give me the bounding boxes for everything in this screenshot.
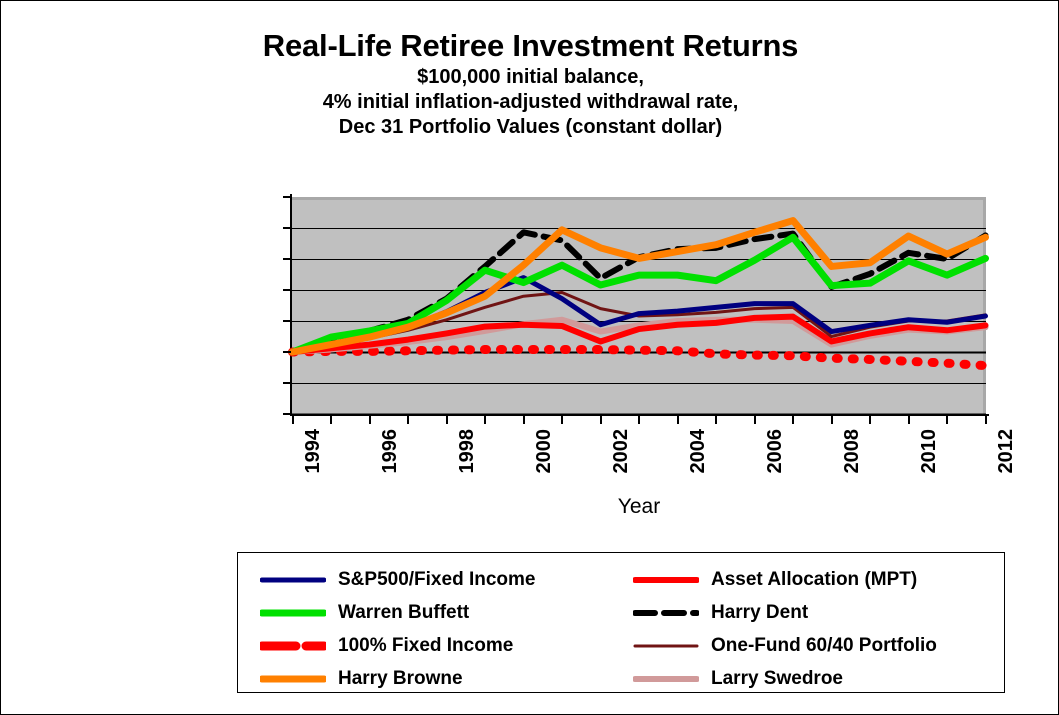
x-axis-tick xyxy=(330,416,332,424)
x-axis-tick xyxy=(600,416,602,424)
y-axis-tick xyxy=(283,227,291,229)
legend-label: Warren Buffett xyxy=(338,602,469,624)
x-axis-tick xyxy=(869,416,871,424)
x-axis-tick xyxy=(484,416,486,424)
legend-swatch-icon xyxy=(633,636,699,656)
x-axis-tick xyxy=(792,416,794,424)
legend-item[interactable]: Asset Allocation (MPT) xyxy=(633,563,937,596)
series-lines xyxy=(292,197,986,414)
x-axis-tick xyxy=(407,416,409,424)
y-axis-tick xyxy=(283,258,291,260)
title-block: Real-Life Retiree Investment Returns $10… xyxy=(1,27,1059,140)
x-axis-tick xyxy=(292,416,294,424)
legend-swatch-icon xyxy=(633,570,699,590)
legend-swatch-icon xyxy=(260,603,326,623)
legend-item[interactable]: 100% Fixed Income xyxy=(260,629,535,662)
x-axis-tick xyxy=(446,416,448,424)
x-axis-tick xyxy=(561,416,563,424)
y-axis-tick xyxy=(283,320,291,322)
legend-swatch-icon xyxy=(633,603,699,623)
legend-item[interactable]: S&P500/Fixed Income xyxy=(260,563,535,596)
subtitle-line-2: 4% initial inflation-adjusted withdrawal… xyxy=(1,90,1059,115)
x-axis-tick-label: 2012 xyxy=(995,429,1018,474)
x-axis-tick xyxy=(985,416,987,424)
legend-swatch-icon xyxy=(633,669,699,689)
x-axis-tick-label: 1996 xyxy=(379,429,402,474)
x-axis-tick-label: 2002 xyxy=(610,429,633,474)
x-axis-tick-label: 2004 xyxy=(687,429,710,474)
y-axis-tick xyxy=(283,413,291,415)
legend-item[interactable]: Warren Buffett xyxy=(260,596,535,629)
legend-item[interactable]: One-Fund 60/40 Portfolio xyxy=(633,629,937,662)
chart-frame: Real-Life Retiree Investment Returns $10… xyxy=(0,0,1059,715)
y-axis-tick xyxy=(283,382,291,384)
x-axis-tick-label: 2010 xyxy=(918,429,941,474)
legend-swatch-icon xyxy=(260,570,326,590)
y-axis-tick xyxy=(283,196,291,198)
x-axis-title: Year xyxy=(292,495,986,519)
x-axis-tick xyxy=(638,416,640,424)
x-axis-tick-label: 2006 xyxy=(764,429,787,474)
x-axis-tick xyxy=(369,416,371,424)
y-axis-tick xyxy=(283,351,291,353)
legend-item[interactable]: Harry Browne xyxy=(260,662,535,695)
x-axis-tick xyxy=(523,416,525,424)
x-axis-tick xyxy=(908,416,910,424)
plot-wrap: $350,000$300,000$250,000$200,000$150,000… xyxy=(292,197,986,414)
x-axis-tick-label: 1994 xyxy=(302,429,325,474)
x-axis-tick xyxy=(754,416,756,424)
legend-label: 100% Fixed Income xyxy=(338,635,513,657)
x-axis-tick-label: 2008 xyxy=(841,429,864,474)
legend-item[interactable]: Larry Swedroe xyxy=(633,662,937,695)
x-axis-tick-label: 1998 xyxy=(456,429,479,474)
legend-label: Harry Dent xyxy=(711,602,808,624)
x-axis-tick xyxy=(677,416,679,424)
legend-label: Harry Browne xyxy=(338,668,463,690)
legend-label: S&P500/Fixed Income xyxy=(338,569,535,591)
x-axis-tick xyxy=(946,416,948,424)
legend: S&P500/Fixed IncomeWarren Buffett100% Fi… xyxy=(237,552,1005,693)
legend-item[interactable]: Harry Dent xyxy=(633,596,937,629)
y-axis-tick xyxy=(283,289,291,291)
legend-swatch-icon xyxy=(260,636,326,656)
legend-column-left: S&P500/Fixed IncomeWarren Buffett100% Fi… xyxy=(260,563,535,695)
legend-column-right: Asset Allocation (MPT)Harry DentOne-Fund… xyxy=(633,563,937,695)
subtitle-line-3: Dec 31 Portfolio Values (constant dollar… xyxy=(1,115,1059,140)
legend-label: One-Fund 60/40 Portfolio xyxy=(711,635,937,657)
legend-label: Larry Swedroe xyxy=(711,668,843,690)
x-axis-tick-label: 2000 xyxy=(533,429,556,474)
x-axis-tick xyxy=(831,416,833,424)
legend-label: Asset Allocation (MPT) xyxy=(711,569,917,591)
page-title: Real-Life Retiree Investment Returns xyxy=(1,27,1059,65)
subtitle-line-1: $100,000 initial balance, xyxy=(1,65,1059,90)
series-line xyxy=(293,350,986,366)
x-axis-tick xyxy=(715,416,717,424)
legend-swatch-icon xyxy=(260,669,326,689)
